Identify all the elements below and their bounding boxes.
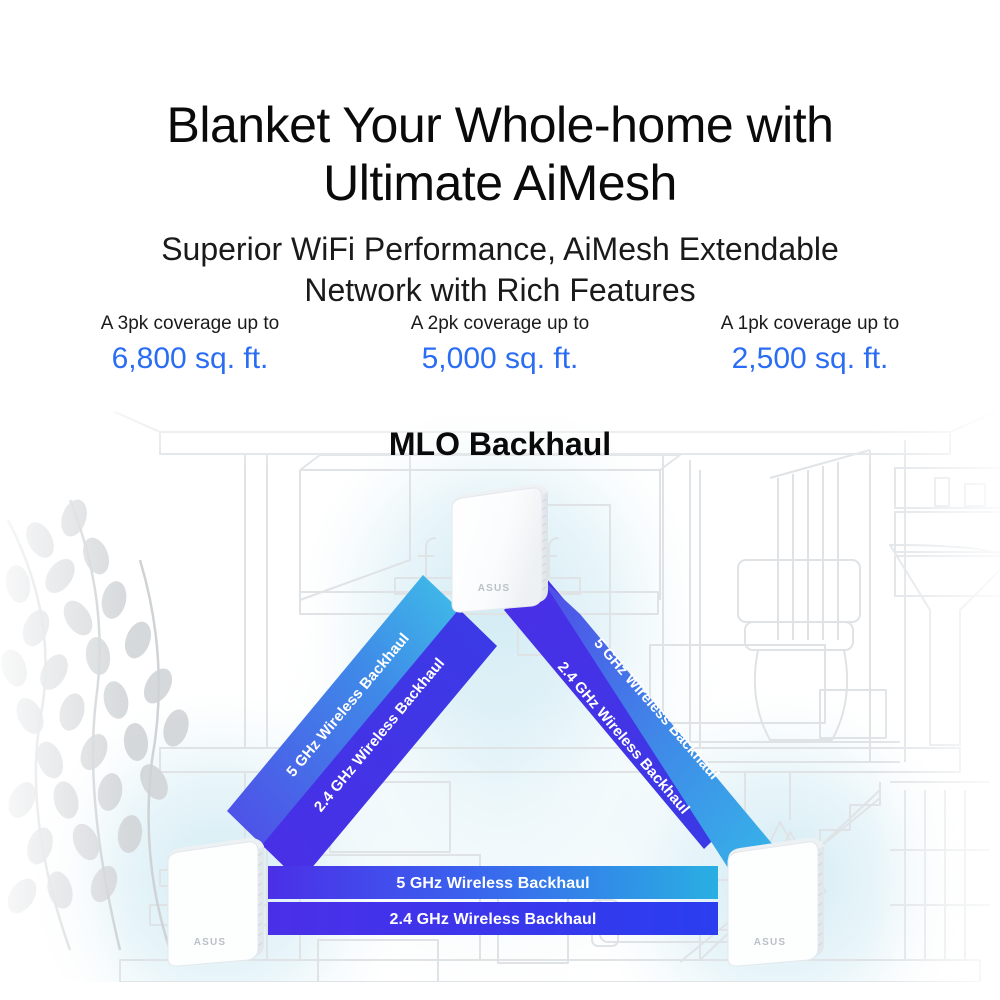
band-label-right-24ghz: 2.4 GHz Wireless Backhaul bbox=[554, 659, 693, 818]
coverage-stat-label: A 1pk coverage up to bbox=[660, 312, 960, 336]
band-left-24ghz bbox=[262, 609, 497, 882]
band-right-5ghz bbox=[541, 578, 779, 888]
coverage-stat-value: 6,800 sq. ft. bbox=[40, 340, 340, 378]
asus-logo: ASUS bbox=[478, 583, 511, 594]
asus-logo: ASUS bbox=[754, 937, 787, 948]
coverage-stats: A 3pk coverage up to 6,800 sq. ft. A 2pk… bbox=[40, 312, 960, 378]
coverage-stat-3pk: A 3pk coverage up to 6,800 sq. ft. bbox=[40, 312, 340, 378]
coverage-stat-value: 5,000 sq. ft. bbox=[350, 340, 650, 378]
backhaul-link-right bbox=[504, 573, 779, 888]
band-bottom-5ghz bbox=[268, 866, 718, 899]
band-label-left-24ghz: 2.4 GHz Wireless Backhaul bbox=[311, 655, 448, 815]
diagram-title: MLO Backhaul bbox=[0, 424, 1000, 464]
band-right-24ghz bbox=[504, 573, 742, 849]
coverage-stat-2pk: A 2pk coverage up to 5,000 sq. ft. bbox=[350, 312, 650, 378]
mesh-node-bottom-right: ASUS bbox=[712, 832, 842, 972]
mesh-node-bottom-left: ASUS bbox=[152, 832, 282, 972]
coverage-halos bbox=[30, 400, 970, 1000]
foliage bbox=[0, 496, 193, 950]
band-label-bottom-24ghz: 2.4 GHz Wireless Backhaul bbox=[390, 911, 597, 928]
band-bottom-24ghz bbox=[268, 902, 718, 935]
band-label-left-5ghz: 5 GHz Wireless Backhaul bbox=[283, 630, 412, 780]
coverage-stat-label: A 3pk coverage up to bbox=[40, 312, 340, 336]
backhaul-link-left bbox=[227, 575, 497, 882]
backhaul-link-bottom bbox=[268, 866, 718, 935]
mesh-node-top: ASUS bbox=[436, 478, 566, 618]
page-subtitle: Superior WiFi Performance, AiMesh Extend… bbox=[0, 229, 1000, 311]
coverage-stat-value: 2,500 sq. ft. bbox=[660, 340, 960, 378]
page-title: Blanket Your Whole-home with Ultimate Ai… bbox=[0, 96, 1000, 212]
band-label-bottom-5ghz: 5 GHz Wireless Backhaul bbox=[396, 875, 589, 892]
band-label-right-5ghz: 5 GHz Wireless Backhaul bbox=[590, 635, 722, 783]
asus-logo: ASUS bbox=[194, 937, 227, 948]
band-left-5ghz bbox=[227, 575, 462, 848]
house-lines bbox=[115, 412, 1000, 1000]
coverage-stat-label: A 2pk coverage up to bbox=[350, 312, 650, 336]
product-infographic: Blanket Your Whole-home with Ultimate Ai… bbox=[0, 0, 1000, 1000]
coverage-stat-1pk: A 1pk coverage up to 2,500 sq. ft. bbox=[660, 312, 960, 378]
